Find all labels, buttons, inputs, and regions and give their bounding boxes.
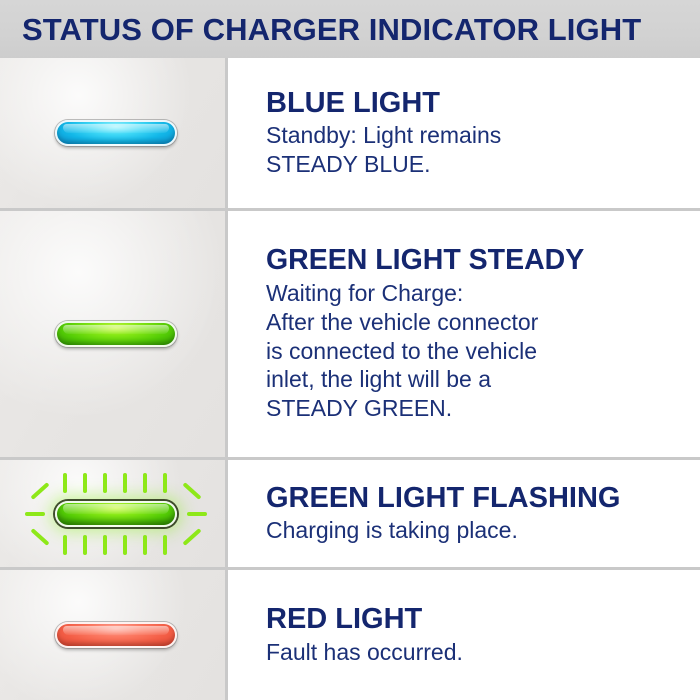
status-description: Standby: Light remains STEADY BLUE. xyxy=(266,121,682,179)
status-table: BLUE LIGHT Standby: Light remains STEADY… xyxy=(0,58,700,700)
status-description: Charging is taking place. xyxy=(266,516,682,545)
status-description: Fault has occurred. xyxy=(266,638,682,667)
header-banner: STATUS OF CHARGER INDICATOR LIGHT xyxy=(0,0,700,58)
green-steady-led-icon xyxy=(55,321,177,347)
status-text-cell: BLUE LIGHT Standby: Light remains STEADY… xyxy=(228,58,700,208)
status-icon-cell xyxy=(0,211,228,457)
status-title: GREEN LIGHT FLASHING xyxy=(266,482,682,514)
blue-steady-led-icon xyxy=(55,120,177,146)
red-fault-led-icon xyxy=(55,622,177,648)
status-icon-cell xyxy=(0,570,228,700)
status-description: Waiting for Charge: After the vehicle co… xyxy=(266,279,682,423)
table-row: GREEN LIGHT FLASHING Charging is taking … xyxy=(0,460,700,570)
status-text-cell: GREEN LIGHT FLASHING Charging is taking … xyxy=(228,460,700,567)
status-text-cell: RED LIGHT Fault has occurred. xyxy=(228,570,700,700)
status-text-cell: GREEN LIGHT STEADY Waiting for Charge: A… xyxy=(228,211,700,457)
led-indicator-wrap xyxy=(0,460,225,567)
status-icon-cell xyxy=(0,460,228,567)
table-row: BLUE LIGHT Standby: Light remains STEADY… xyxy=(0,58,700,211)
status-title: GREEN LIGHT STEADY xyxy=(266,245,682,277)
led-indicator-wrap xyxy=(0,570,225,700)
led-indicator-wrap xyxy=(0,58,225,208)
status-title: BLUE LIGHT xyxy=(266,87,682,119)
led-indicator-wrap xyxy=(0,211,225,457)
status-icon-cell xyxy=(0,58,228,208)
green-flashing-led-icon xyxy=(55,501,177,527)
table-row: RED LIGHT Fault has occurred. xyxy=(0,570,700,700)
charger-status-infographic: STATUS OF CHARGER INDICATOR LIGHT BLUE L… xyxy=(0,0,700,700)
table-row: GREEN LIGHT STEADY Waiting for Charge: A… xyxy=(0,211,700,460)
page-title: STATUS OF CHARGER INDICATOR LIGHT xyxy=(22,14,641,45)
status-title: RED LIGHT xyxy=(266,603,682,635)
